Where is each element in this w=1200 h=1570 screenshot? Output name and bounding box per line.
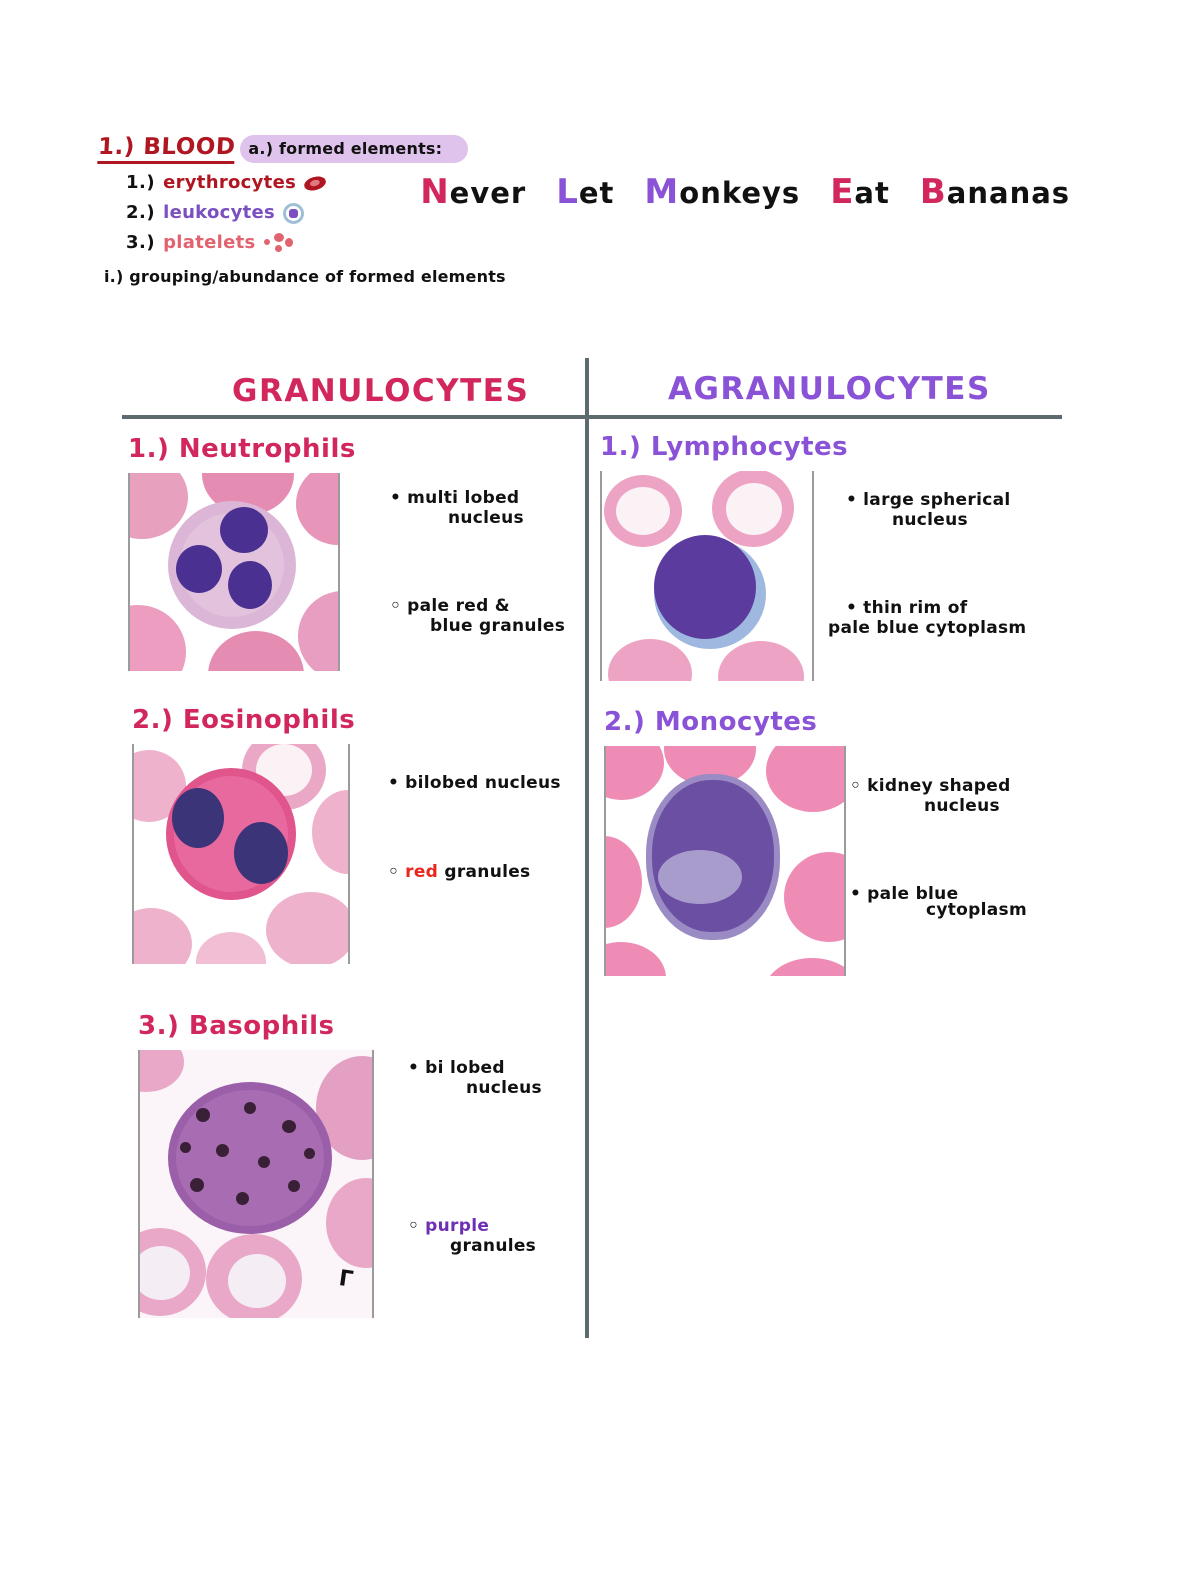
mnemonic-word-bananas: Bananas [920, 173, 1070, 212]
entry-title: 2.) Monocytes [604, 708, 846, 738]
notes-lymphocytes: •large sphericalnucleus •thin rim ofpale… [846, 452, 1056, 688]
note-item: •thin rim ofpale blue cytoplasm [846, 599, 1056, 638]
basophil-micrograph: Γ [138, 1050, 374, 1318]
note-line-2: granules [450, 1237, 598, 1257]
bullet-glyph: • [408, 1058, 419, 1078]
note-item: •bi lobednucleus [408, 1059, 598, 1098]
mnemonic-rest: et [579, 176, 615, 210]
note-word-purple: purple [425, 1216, 489, 1236]
bullet-glyph: • [846, 490, 857, 510]
mnemonic-word-monkeys: Monkeys [644, 173, 800, 212]
note-line-1: bi lobed [425, 1058, 505, 1078]
entry-basophils: 3.) Basophils Γ [138, 1012, 374, 1318]
mnemonic-cap: L [556, 172, 579, 212]
note-item: •bilobed nucleus [388, 774, 588, 794]
entry-title: 1.) Lymphocytes [600, 433, 848, 463]
bullet-glyph: ◦ [850, 776, 861, 796]
bullet-glyph: ◦ [408, 1216, 419, 1236]
page-title: 1.) BLOOD [97, 134, 236, 164]
grouping-abundance-note: i.) grouping/abundance of formed element… [104, 268, 558, 286]
note-item: •pale bluecytoplasm [850, 885, 1060, 920]
note-line-2: nucleus [924, 797, 1060, 817]
bullet-glyph: • [390, 488, 401, 508]
notes-monocytes: ◦kidney shapednucleus •pale bluecytoplas… [850, 738, 1060, 970]
note-line-1: bilobed nucleus [405, 773, 561, 793]
mnemonic-rest: at [854, 176, 889, 210]
list-item-platelets: 3.) platelets [126, 233, 558, 254]
mnemonic-rest: ever [450, 176, 527, 210]
bullet-glyph: • [850, 884, 861, 904]
lymphocyte-micrograph [600, 471, 814, 681]
note-line-1: pale red & [407, 596, 510, 616]
entry-title: 3.) Basophils [138, 1012, 374, 1042]
notes-neutrophils: •multi lobednucleus ◦pale red &blue gran… [390, 450, 580, 686]
list-label: leukocytes [163, 203, 275, 224]
note-line-1: multi lobed [407, 488, 519, 508]
mnemonic-cap: M [644, 172, 679, 212]
column-header-granulocytes: GRANULOCYTES [232, 374, 529, 410]
entry-title: 2.) Eosinophils [132, 706, 355, 736]
neutrophil-micrograph [128, 473, 340, 671]
monocyte-micrograph [604, 746, 846, 976]
note-line-2: nucleus [892, 511, 1056, 531]
mnemonic-cap: B [920, 172, 947, 212]
entry-title: 1.) Neutrophils [128, 435, 356, 465]
red-blood-cell-icon [303, 175, 328, 194]
note-line-2: cytoplasm [926, 901, 1060, 921]
list-label: erythrocytes [163, 173, 296, 194]
mnemonic-rest: onkeys [679, 176, 800, 210]
bullet-glyph: ◦ [390, 596, 401, 616]
platelets-icon [264, 233, 294, 253]
column-header-agranulocytes: AGRANULOCYTES [668, 372, 991, 408]
note-line-2: nucleus [466, 1079, 598, 1099]
list-label: platelets [163, 233, 255, 254]
mnemonic-cap: E [830, 172, 854, 212]
eosinophil-micrograph [132, 744, 350, 964]
list-number: 3.) [126, 233, 155, 254]
mnemonic-word-eat: Eat [830, 173, 890, 212]
list-number: 2.) [126, 203, 155, 224]
basophil-corner-mark: Γ [338, 1266, 356, 1293]
note-item: ◦pale red &blue granules [390, 597, 580, 636]
mnemonic-rest: ananas [947, 176, 1070, 210]
note-item: ◦red granules [388, 863, 588, 883]
note-line-1: thin rim of [863, 598, 967, 618]
bullet-glyph: • [388, 773, 399, 793]
note-line-1: large spherical [863, 490, 1010, 510]
note-line-2: pale blue cytoplasm [828, 619, 1056, 639]
note-line-1: granules [438, 862, 530, 882]
note-line-1: kidney shaped [867, 776, 1010, 796]
note-item: ◦kidney shapednucleus [850, 777, 1060, 816]
notes-eosinophils: •bilobed nucleus ◦red granules [388, 735, 588, 932]
bullet-glyph: • [846, 598, 857, 618]
note-word-red: red [405, 862, 438, 882]
mnemonic-word-let: Let [556, 173, 614, 212]
entry-neutrophils: 1.) Neutrophils [128, 435, 356, 671]
bullet-glyph: ◦ [388, 862, 399, 882]
mnemonic-word-never: Never [420, 173, 526, 212]
mnemonic-cap: N [420, 172, 449, 212]
mnemonic-phrase: NeverLetMonkeysEatBananas [398, 140, 1100, 212]
entry-monocytes: 2.) Monocytes [604, 708, 846, 976]
note-item: •multi lobednucleus [390, 489, 580, 528]
note-line-2: blue granules [430, 617, 580, 637]
notes-basophils: •bi lobednucleus ◦purplegranules [408, 1020, 598, 1306]
list-number: 1.) [126, 173, 155, 194]
note-line-2: nucleus [448, 509, 580, 529]
white-blood-cell-icon [283, 203, 304, 224]
note-item: ◦purplegranules [408, 1217, 598, 1256]
note-item: •large sphericalnucleus [846, 491, 1056, 530]
entry-lymphocytes: 1.) Lymphocytes [600, 433, 848, 681]
entry-eosinophils: 2.) Eosinophils [132, 706, 355, 964]
table-horizontal-divider [122, 415, 1062, 419]
